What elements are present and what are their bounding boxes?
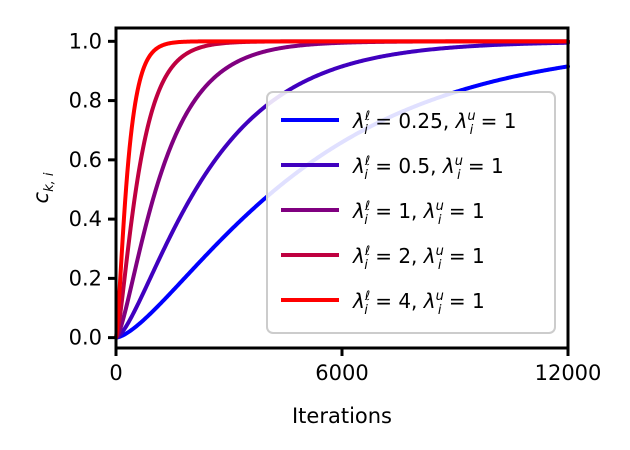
- y-tick-label: 0.8: [69, 89, 102, 113]
- y-tick-label: 0.6: [69, 148, 102, 172]
- y-axis-label-subscript: k, i: [42, 172, 57, 192]
- y-tick-label: 0.0: [69, 326, 102, 350]
- legend: λℓi = 0.25, λui = 1λℓi = 0.5, λui = 1λℓi…: [267, 92, 555, 333]
- x-tick-label: 12000: [535, 361, 602, 385]
- x-axis-label: Iterations: [292, 404, 392, 428]
- y-tick-label: 1.0: [69, 29, 102, 53]
- y-axis-label-main: c: [29, 191, 53, 203]
- x-tick-label: 0: [109, 361, 122, 385]
- y-tick-label: 0.2: [69, 266, 102, 290]
- figure-canvas: 06000120000.00.20.40.60.81.0 Iterations …: [0, 0, 630, 450]
- line-chart: 06000120000.00.20.40.60.81.0 Iterations …: [0, 0, 630, 450]
- x-tick-label: 6000: [315, 361, 368, 385]
- y-tick-label: 0.4: [69, 207, 102, 231]
